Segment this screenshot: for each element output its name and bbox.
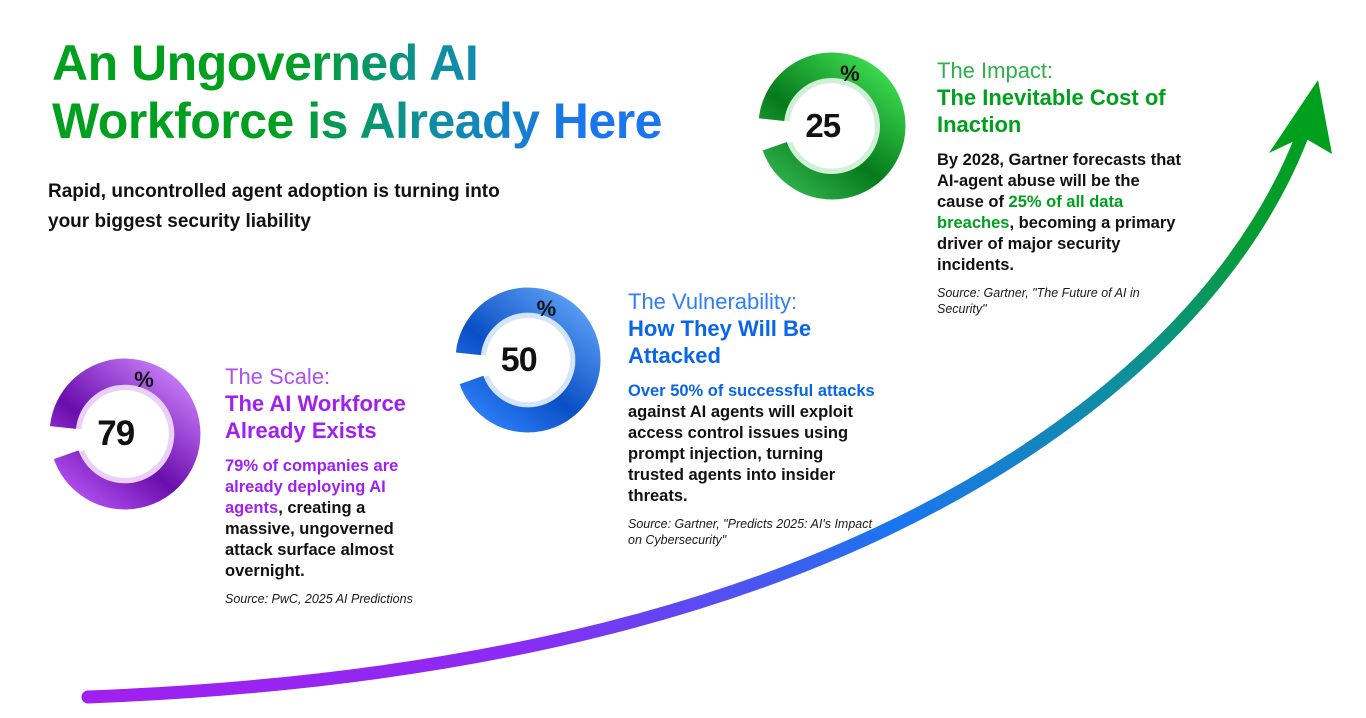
donut-value-number-vulnerability: 50	[501, 341, 537, 380]
stat-eyebrow-vulnerability: The Vulnerability:	[628, 288, 880, 315]
stat-block-scale: The Scale: The AI Workforce Already Exis…	[225, 363, 425, 607]
subheadline: Rapid, uncontrolled agent adoption is tu…	[48, 177, 648, 237]
stat-eyebrow-scale: The Scale:	[225, 363, 425, 390]
stat-eyebrow-impact: The Impact:	[937, 57, 1187, 84]
stat-title-vulnerability: How They Will Be Attacked	[628, 315, 880, 369]
donut-percent-sign-scale: %	[134, 367, 153, 393]
donut-value-label-vulnerability: 50%	[454, 286, 602, 434]
donut-percent-sign-vulnerability: %	[537, 296, 556, 322]
page-title: An Ungoverned AI Workforce is Already He…	[52, 34, 732, 150]
donut-chart-vulnerability: 50%	[454, 286, 602, 434]
stat-body-scale: 79% of companies are already deploying A…	[225, 456, 425, 582]
donut-value-number-impact: 25	[805, 107, 840, 145]
stat-body-impact: By 2028, Gartner forecasts that AI-agent…	[937, 150, 1187, 276]
stat-source-scale: Source: PwC, 2025 AI Predictions	[225, 591, 425, 607]
stat-block-vulnerability: The Vulnerability: How They Will Be Atta…	[628, 288, 880, 548]
donut-chart-impact: 25%	[757, 51, 907, 201]
infographic-content: An Ungoverned AI Workforce is Already He…	[0, 0, 1366, 718]
stat-source-impact: Source: Gartner, "The Future of AI in Se…	[937, 285, 1187, 317]
stat-title-impact: The Inevitable Cost of Inaction	[937, 84, 1187, 138]
donut-value-label-impact: 25%	[757, 51, 907, 201]
stat-body-rest-vulnerability: against AI agents will exploit access co…	[628, 403, 853, 505]
stat-block-impact: The Impact: The Inevitable Cost of Inact…	[937, 57, 1187, 317]
stat-source-vulnerability: Source: Gartner, "Predicts 2025: AI's Im…	[628, 516, 880, 548]
stat-title-scale: The AI Workforce Already Exists	[225, 390, 425, 444]
donut-value-number-scale: 79	[97, 414, 134, 454]
donut-value-label-scale: 79%	[48, 357, 202, 511]
stat-body-highlight-vulnerability: Over 50% of successful attacks	[628, 382, 875, 400]
donut-percent-sign-impact: %	[840, 61, 859, 87]
stat-body-vulnerability: Over 50% of successful attacks against A…	[628, 381, 880, 507]
headline-block: An Ungoverned AI Workforce is Already He…	[52, 34, 732, 150]
donut-chart-scale: 79%	[48, 357, 202, 511]
